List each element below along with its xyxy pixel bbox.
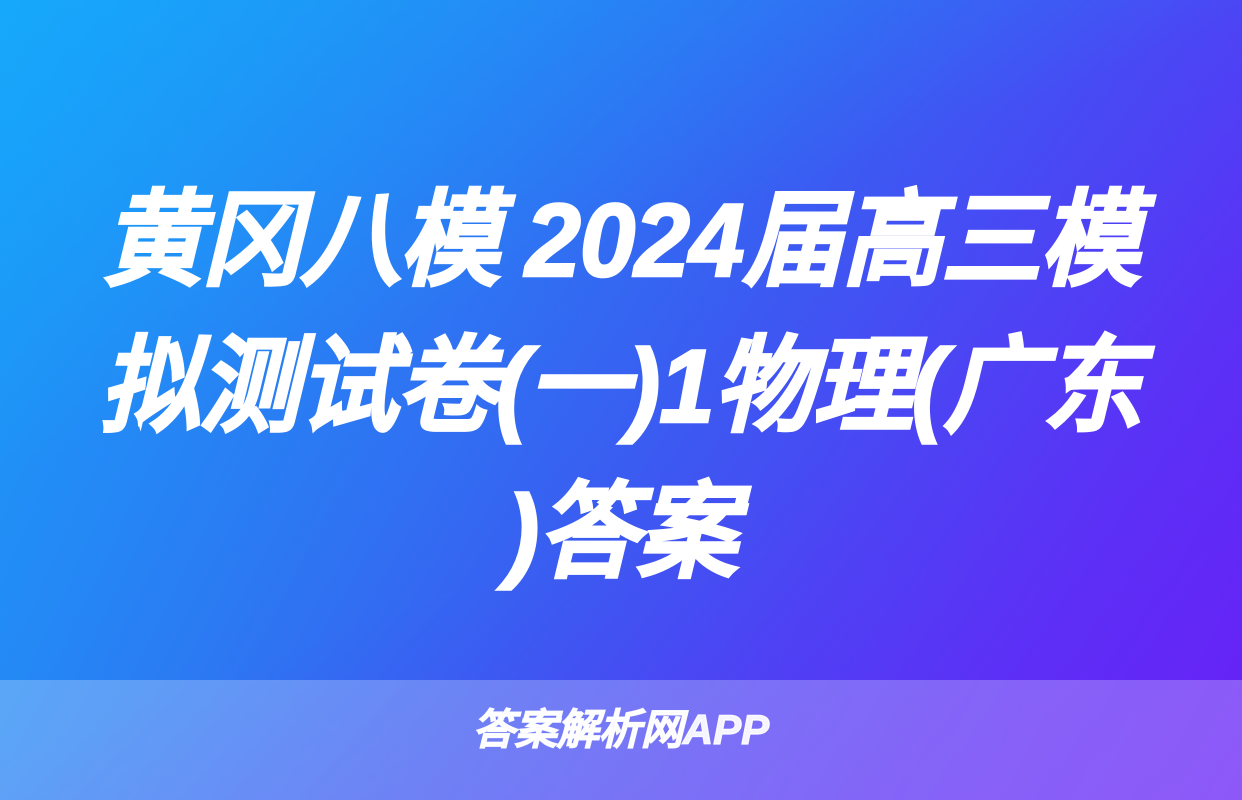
poster-canvas: 黄冈八模 2024届高三模 拟测试卷(一)1物理(广东 )答案 答案解析网APP — [0, 0, 1242, 800]
page-title: 黄冈八模 2024届高三模 拟测试卷(一)1物理(广东 )答案 — [0, 168, 1242, 606]
title-line-2: 拟测试卷(一)1物理(广东 — [82, 314, 1159, 460]
title-line-3: )答案 — [82, 460, 1159, 606]
watermark-app-label: 答案解析网APP — [0, 700, 1242, 760]
title-line-1: 黄冈八模 2024届高三模 — [82, 168, 1159, 314]
